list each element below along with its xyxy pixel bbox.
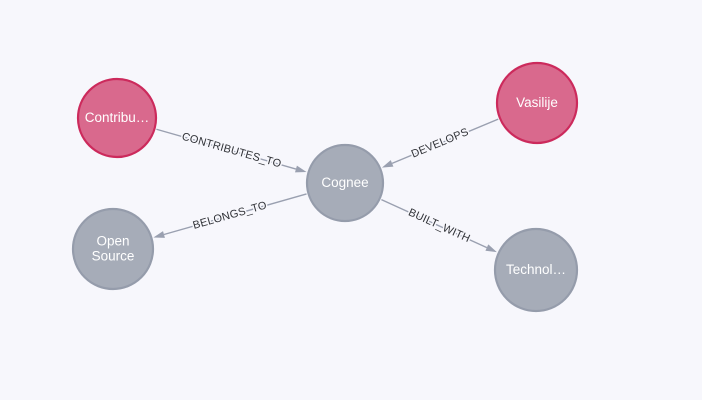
edge-arrowhead [485,244,496,252]
edge-arrowhead [153,231,165,238]
edge-belongs_to[interactable]: BELONGS_TO [153,194,306,238]
edge-arrowhead [382,160,394,167]
edge-label-contributes_to: CONTRIBUTES_TO [180,131,282,171]
edge-label-belongs_to: BELONGS_TO [192,199,269,232]
node-contributor[interactable]: Contribu… [78,79,156,157]
graph-canvas[interactable]: CONTRIBUTES_TODEVELOPSBELONGS_TOBUILT_WI… [0,0,702,400]
node-label-cognee: Cognee [321,175,368,190]
edge-contributes_to[interactable]: CONTRIBUTES_TO [156,129,306,172]
node-label-vasilije: Vasilije [516,95,558,110]
node-label-technology: Technol… [506,262,566,277]
nodes-layer: Contribu…VasilijeCogneeOpenSourceTechnol… [73,63,577,311]
edge-arrowhead [295,166,307,173]
node-label-contributor: Contribu… [85,110,150,125]
edge-label-develops: DEVELOPS [410,126,471,161]
node-vasilije[interactable]: Vasilije [497,63,577,143]
node-label-open_source: OpenSource [92,233,135,263]
node-cognee[interactable]: Cognee [307,145,383,221]
edge-label-built_with: BUILT_WITH [406,207,472,246]
node-technology[interactable]: Technol… [495,229,577,311]
graph-svg[interactable]: CONTRIBUTES_TODEVELOPSBELONGS_TOBUILT_WI… [0,0,702,400]
edge-built_with[interactable]: BUILT_WITH [381,200,496,253]
node-open_source[interactable]: OpenSource [73,209,153,289]
edge-develops[interactable]: DEVELOPS [382,119,498,167]
